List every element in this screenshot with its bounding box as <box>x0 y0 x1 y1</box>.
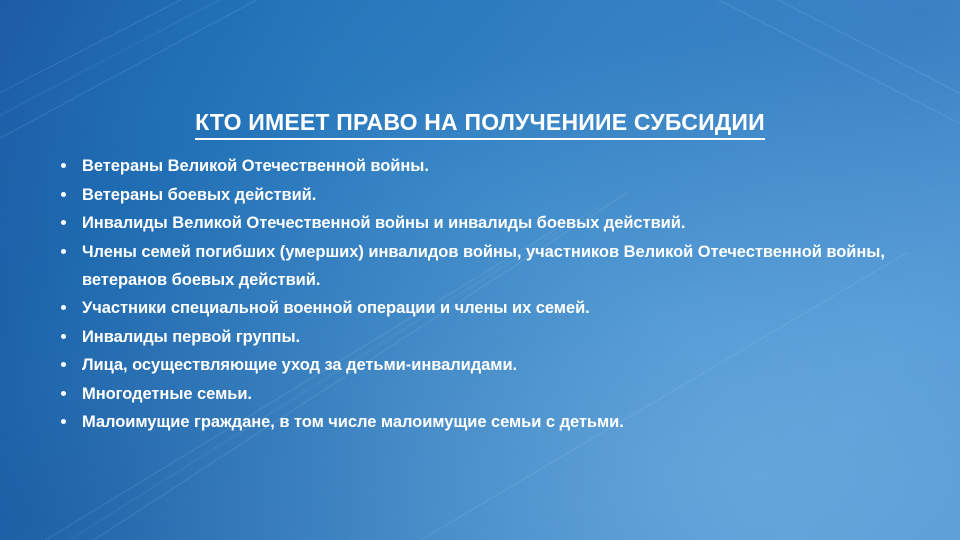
bullet-dot-icon <box>61 163 66 168</box>
list-item: Многодетные семьи. <box>56 380 912 408</box>
list-item: Лица, осуществляющие уход за детьми-инва… <box>56 351 912 379</box>
list-item-label: Участники специальной военной операции и… <box>82 294 912 322</box>
list-item-label: Ветераны боевых действий. <box>82 181 912 209</box>
bullet-dot-icon <box>61 305 66 310</box>
eligibility-bullet-list: Ветераны Великой Отечественной войны. Ве… <box>56 152 912 437</box>
slide-content: КТО ИМЕЕТ ПРАВО НА ПОЛУЧЕНИИЕ СУБСИДИИ В… <box>0 0 960 540</box>
bullet-dot-icon <box>61 391 66 396</box>
bullet-dot-icon <box>61 362 66 367</box>
list-item-label: Многодетные семьи. <box>82 380 912 408</box>
presentation-slide: КТО ИМЕЕТ ПРАВО НА ПОЛУЧЕНИИЕ СУБСИДИИ В… <box>0 0 960 540</box>
list-item-label: Ветераны Великой Отечественной войны. <box>82 152 912 180</box>
list-item: Члены семей погибших (умерших) инвалидов… <box>56 238 912 294</box>
list-item-label: Малоимущие граждане, в том числе малоиму… <box>82 408 912 436</box>
list-item: Ветераны Великой Отечественной войны. <box>56 152 912 180</box>
list-item: Малоимущие граждане, в том числе малоиму… <box>56 408 912 436</box>
slide-title: КТО ИМЕЕТ ПРАВО НА ПОЛУЧЕНИИЕ СУБСИДИИ <box>0 109 960 139</box>
list-item-label: Инвалиды Великой Отечественной войны и и… <box>82 209 912 237</box>
bullet-dot-icon <box>61 192 66 197</box>
list-item: Участники специальной военной операции и… <box>56 294 912 322</box>
list-item: Инвалиды Великой Отечественной войны и и… <box>56 209 912 237</box>
bullet-dot-icon <box>61 220 66 225</box>
bullet-dot-icon <box>61 419 66 424</box>
bullet-dot-icon <box>61 334 66 339</box>
slide-title-text: КТО ИМЕЕТ ПРАВО НА ПОЛУЧЕНИИЕ СУБСИДИИ <box>195 110 765 139</box>
list-item-label: Лица, осуществляющие уход за детьми-инва… <box>82 351 912 379</box>
list-item: Инвалиды первой группы. <box>56 323 912 351</box>
list-item-label: Инвалиды первой группы. <box>82 323 912 351</box>
list-item: Ветераны боевых действий. <box>56 181 912 209</box>
list-item-label: Члены семей погибших (умерших) инвалидов… <box>82 238 912 294</box>
bullet-dot-icon <box>61 249 66 254</box>
